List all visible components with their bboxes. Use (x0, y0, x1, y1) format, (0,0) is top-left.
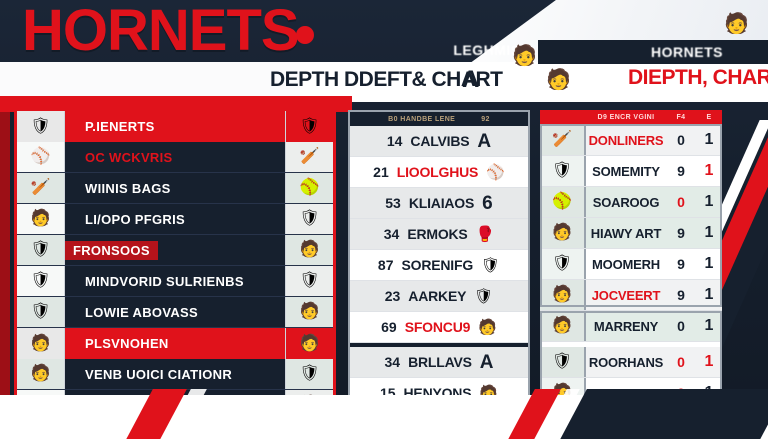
right-panel-row[interactable]: 🛡MOOMERH91 (540, 249, 722, 280)
middle-panel-row-name: ERMOKS (407, 226, 467, 242)
left-panel-row-label: LI/OPO PFGRIS (75, 212, 285, 227)
right-panel-row-stat-a: 0 (666, 318, 696, 334)
middle-panel-row[interactable]: 21LIOOLGHUS⚾ (350, 157, 528, 188)
right-panel-row-stat-b: 1 (696, 255, 722, 273)
mascot-head-icon: 🧑 (17, 204, 65, 234)
middle-panel-row-name: SORENIFG (402, 257, 474, 273)
batter-mascot-icon: 🧑 (540, 311, 586, 341)
right-col-header-name: D9 ENCR VGINI (540, 114, 666, 121)
right-panel-row-name: DONLINERS (586, 133, 666, 148)
pitcher-mascot-icon: 🧑 (285, 297, 333, 327)
baseball-pitcher-mascot-icon: 🧑 (546, 70, 571, 90)
left-panel-row-label: LOWIE ABOVASS (75, 305, 285, 320)
baseball-icon: ⚾ (17, 142, 65, 172)
middle-panel-row-number: 23 (385, 288, 401, 304)
middle-panel-row-number: 21 (373, 164, 389, 180)
left-panel-row[interactable]: ⚾OC WCKVRIS🏏 (17, 142, 333, 173)
pennant-shield-icon: 🛡 (540, 249, 586, 279)
right-panel-row-stat-b: 1 (696, 317, 722, 335)
left-panel-row-label: OC WCKVRIS (75, 150, 285, 165)
middle-panel-row-name: CALVIBS (410, 133, 469, 149)
right-panel-row-stat-b: 1 (696, 162, 722, 180)
player-portrait-icon: 🧑 (540, 218, 586, 248)
team-shield-icon: 🛡 (285, 266, 333, 296)
left-panel-row-label: WIINIS BAGS (75, 181, 285, 196)
right-panel-row-stat-b: 1 (696, 193, 722, 211)
right-panel-row[interactable]: 🧑MARRENY01 (540, 311, 722, 342)
right-panel-row-stat-a: 9 (666, 225, 696, 241)
right-depth-chart-panel[interactable]: D9 ENCR VGINI F4 E 🏏DONLINERS01🛡SOMEMITY… (540, 110, 722, 408)
middle-panel-row[interactable]: 34ERMOKS🥊 (350, 219, 528, 250)
right-panel-row-stat-a: 9 (666, 163, 696, 179)
right-panel-row-stat-a: 0 (666, 194, 696, 210)
right-panel-row-name: JOCVEERT (586, 288, 666, 303)
player-portrait-icon: 🧑 (478, 320, 497, 335)
middle-panel-title: DEPTH DDEFT& CHART (270, 68, 480, 92)
right-panel-column-headers: D9 ENCR VGINI F4 E (540, 110, 722, 125)
middle-panel-column-headers: B0 HANDBE LENE 92 (350, 112, 528, 126)
left-panel-row-label: PLSVNOHEN (75, 336, 285, 351)
middle-panel-row[interactable]: 23AARKEY🛡 (350, 281, 528, 312)
middle-panel-row[interactable]: 34BRLLAVSA (350, 347, 528, 378)
middle-panel-row-number: 34 (384, 226, 400, 242)
mascot-face-icon: 🧑 (17, 359, 65, 389)
left-panel-row-label-wrap: LOWIE ABOVASS (65, 305, 285, 320)
pitcher-mascot-icon: 🧑 (540, 280, 586, 310)
pennant-shield-icon: 🛡 (285, 359, 333, 389)
right-panel-row-stat-a: 9 (666, 256, 696, 272)
pennant-icon: 🥊 (476, 227, 495, 242)
middle-panel-row[interactable]: 69SFONCU9🧑 (350, 312, 528, 343)
left-depth-chart-panel[interactable]: 🛡P.IENERTS🛡⚾OC WCKVRIS🏏🏏WIINIS BAGS🥎🧑LI/… (14, 108, 336, 414)
left-panel-row-label-wrap: PLSVNOHEN (65, 336, 285, 351)
right-col-header-a: F4 (666, 114, 696, 121)
depth-chart-graphic: HORNETS LEGHMIS HORNETS 🧑 🧑 🧑 DEPTH DDEF… (0, 0, 768, 439)
right-panel-row-name: HIAWY ART (586, 226, 666, 241)
middle-panel-row-name: SFONCU9 (405, 319, 471, 335)
bottom-navy-stripe (557, 389, 768, 439)
left-panel-row[interactable]: 🏏WIINIS BAGS🥎 (17, 173, 333, 204)
left-panel-row-label-wrap: OC WCKVRIS (65, 150, 285, 165)
middle-panel-row[interactable]: 53KLIAIAOS6 (350, 188, 528, 219)
right-panel-row[interactable]: 🧑HIAWY ART91 (540, 218, 722, 249)
team-shield-icon: 🛡 (481, 258, 500, 273)
team-shield-icon: 🛡 (285, 111, 333, 142)
right-panel-row-name: MOOMERH (586, 257, 666, 272)
subtitle-right: HORNETS (612, 44, 762, 60)
pitcher-mascot-icon: 🧑 (17, 328, 65, 359)
right-panel-row-stat-b: 1 (696, 286, 722, 304)
team-shield-icon: 🛡 (17, 266, 65, 296)
left-panel-row-label: MINDVORID SULRIENBS (75, 274, 285, 289)
middle-panel-row-name: BRLLAVS (408, 354, 472, 370)
right-panel-row-name: MARRENY (586, 319, 666, 334)
mascot-face-icon: 🧑 (285, 235, 333, 265)
left-panel-row-label-wrap: LI/OPO PFGRIS (65, 212, 285, 227)
left-panel-row[interactable]: 🛡LOWIE ABOVASS🧑 (17, 297, 333, 328)
right-panel-row-stat-b: 1 (696, 224, 722, 242)
team-shield-icon: 🛡 (540, 156, 586, 186)
left-panel-row-label: VENB UOICI CIATIONR (75, 367, 285, 382)
middle-panel-row-number: 14 (387, 133, 403, 149)
left-panel-row-label: P.IENERTS (75, 119, 285, 134)
middle-panel-row-name: KLIAIAOS (409, 195, 474, 211)
left-panel-row-label-wrap: FRONSOOS (65, 241, 285, 260)
left-panel-row-label: FRONSOOS (65, 241, 158, 260)
left-panel-row[interactable]: 🛡FRONSOOS🧑 (17, 235, 333, 266)
middle-panel-row-number: 69 (381, 319, 397, 335)
page-title: HORNETS (22, 2, 299, 60)
subtitle-left: LEGHMIS (392, 42, 582, 58)
team-shield-icon: 🛡 (474, 289, 493, 304)
bat-icon: 🏏 (285, 142, 333, 172)
left-panel-row[interactable]: 🛡P.IENERTS🛡 (17, 111, 333, 142)
middle-col-header-1: B0 HANDBE LENE (388, 116, 455, 123)
letter-a-badge-icon: A (477, 132, 491, 151)
right-panel-row[interactable]: 🏏DONLINERS01 (540, 125, 722, 156)
middle-panel-title-badge: A (462, 66, 479, 94)
left-panel-row-label-wrap: VENB UOICI CIATIONR (65, 367, 285, 382)
left-panel-row[interactable]: 🧑PLSVNOHEN🧑 (17, 328, 333, 359)
left-panel-row[interactable]: 🧑LI/OPO PFGRIS🛡 (17, 204, 333, 235)
right-panel-row[interactable]: 🥎SOAROOG01 (540, 187, 722, 218)
pitcher-mascot-icon: 🧑 (285, 328, 333, 359)
right-col-header-b: E (696, 114, 722, 121)
middle-panel-row[interactable]: 87SORENIFG🛡 (350, 250, 528, 281)
right-panel-row[interactable]: 🛡ROORHANS01 (540, 347, 722, 378)
crossed-bat-glove-icon: 🏏 (540, 125, 586, 155)
middle-panel-row-name: LIOOLGHUS (397, 164, 478, 180)
left-panel-row-label-wrap: P.IENERTS (65, 119, 285, 134)
baseball-batter-mascot-icon: 🧑 (724, 14, 749, 34)
crossed-bats-icon: 🏏 (17, 173, 65, 203)
baseball-icon: ⚾ (486, 165, 505, 180)
left-red-rail (0, 112, 10, 412)
right-panel-row-name: SOAROOG (586, 195, 666, 210)
middle-panel-row-name: AARKEY (408, 288, 466, 304)
left-panel-row-label-wrap: WIINIS BAGS (65, 181, 285, 196)
team-shield-icon: 🛡 (17, 297, 65, 327)
middle-panel-row-number: 53 (385, 195, 401, 211)
pennant-shield-icon: 🛡 (285, 204, 333, 234)
middle-depth-chart-panel[interactable]: B0 HANDBE LENE 92 14CALVIBSA21LIOOLGHUS⚾… (348, 110, 530, 408)
right-panel-row[interactable]: 🛡SOMEMITY91 (540, 156, 722, 187)
right-panel-row-stat-a: 0 (666, 354, 696, 370)
left-panel-row[interactable]: 🧑VENB UOICI CIATIONR🛡 (17, 359, 333, 390)
glove-bat-icon: 🥎 (285, 173, 333, 203)
right-panel-row[interactable]: 🧑JOCVEERT91 (540, 280, 722, 311)
right-panel-row-name: SOMEMITY (586, 164, 666, 179)
glove-bat-icon: 🥎 (540, 187, 586, 217)
right-panel-row-stat-a: 9 (666, 287, 696, 303)
right-panel-row-stat-a: 0 (666, 132, 696, 148)
right-panel-row-name: ROORHANS (586, 355, 666, 370)
middle-panel-row-number: 87 (378, 257, 394, 273)
left-panel-row[interactable]: 🛡MINDVORID SULRIENBS🛡 (17, 266, 333, 297)
letter-a-badge-icon: A (480, 353, 494, 372)
middle-panel-row[interactable]: 14CALVIBSA (350, 126, 528, 157)
pennant-shield-icon: 🛡 (540, 347, 586, 377)
team-shield-icon: 🛡 (17, 111, 65, 142)
right-panel-row-stat-b: 1 (696, 353, 722, 371)
middle-panel-row-number: 34 (385, 354, 401, 370)
team-shield-icon: 🛡 (17, 235, 65, 265)
headline-dot-accent (296, 26, 314, 44)
baseball-player-mascot-icon: 🧑 (512, 46, 537, 66)
right-panel-row-stat-b: 1 (696, 131, 722, 149)
right-panel-title: DIEPTH, CHART (628, 66, 768, 90)
number-badge-icon: 6 (482, 194, 493, 213)
left-panel-row-label-wrap: MINDVORID SULRIENBS (65, 274, 285, 289)
middle-col-header-2: 92 (481, 116, 490, 123)
